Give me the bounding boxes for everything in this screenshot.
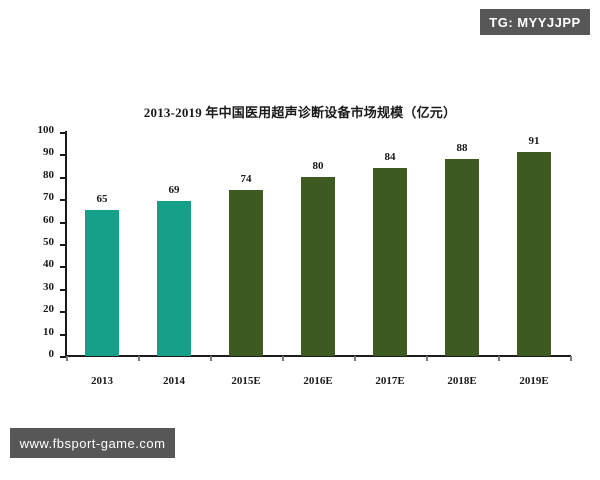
- y-tick-label: 90: [43, 146, 54, 158]
- x-tick: [66, 356, 68, 361]
- bar-value-label: 80: [313, 160, 324, 172]
- y-tick-label: 0: [49, 348, 55, 360]
- y-tick: 10: [60, 334, 66, 336]
- y-tick: 90: [60, 154, 66, 156]
- x-tick: [498, 356, 500, 361]
- y-tick-label: 10: [43, 326, 54, 338]
- bar[interactable]: [85, 210, 119, 356]
- y-tick-label: 70: [43, 191, 54, 203]
- y-tick: 100: [60, 132, 66, 134]
- y-tick-label: 30: [43, 281, 54, 293]
- x-axis-label: 2019E: [499, 375, 569, 387]
- y-tick-label: 40: [43, 258, 54, 270]
- y-tick: 50: [60, 244, 66, 246]
- bar[interactable]: [157, 201, 191, 356]
- x-tick: [210, 356, 212, 361]
- x-axis-label: 2014: [139, 375, 209, 387]
- y-tick: 20: [60, 311, 66, 313]
- x-axis-label: 2016E: [283, 375, 353, 387]
- bar-value-label: 69: [169, 184, 180, 196]
- x-tick: [138, 356, 140, 361]
- bar[interactable]: [517, 152, 551, 356]
- x-axis-label: 2018E: [427, 375, 497, 387]
- x-tick: [570, 356, 572, 361]
- bar[interactable]: [373, 168, 407, 356]
- x-axis-label: 2013: [67, 375, 137, 387]
- x-axis-label: 2017E: [355, 375, 425, 387]
- bar-value-label: 84: [385, 151, 396, 163]
- bar-value-label: 65: [97, 193, 108, 205]
- y-tick-label: 20: [43, 303, 54, 315]
- y-tick: 80: [60, 177, 66, 179]
- y-tick-label: 100: [38, 124, 55, 136]
- y-tick: 60: [60, 222, 66, 224]
- y-tick-label: 60: [43, 214, 54, 226]
- bar[interactable]: [229, 190, 263, 356]
- bar-value-label: 91: [529, 135, 540, 147]
- bar[interactable]: [301, 177, 335, 356]
- plot-area: 0102030405060708090100 65697480848891 20…: [66, 132, 570, 356]
- site-watermark-badge: www.fbsport-game.com: [10, 428, 175, 458]
- chart-title: 2013-2019 年中国医用超声诊断设备市场规模（亿元）: [0, 102, 600, 121]
- y-tick-label: 80: [43, 169, 54, 181]
- y-tick: 70: [60, 199, 66, 201]
- bar-chart-figure: 2013-2019 年中国医用超声诊断设备市场规模（亿元） 0102030405…: [0, 0, 600, 420]
- bar-value-label: 74: [241, 173, 252, 185]
- y-tick: 40: [60, 266, 66, 268]
- y-tick: 30: [60, 289, 66, 291]
- y-tick-label: 50: [43, 236, 54, 248]
- x-tick: [282, 356, 284, 361]
- x-axis-label: 2015E: [211, 375, 281, 387]
- bar[interactable]: [445, 159, 479, 356]
- x-tick: [354, 356, 356, 361]
- x-tick: [426, 356, 428, 361]
- bar-value-label: 88: [457, 142, 468, 154]
